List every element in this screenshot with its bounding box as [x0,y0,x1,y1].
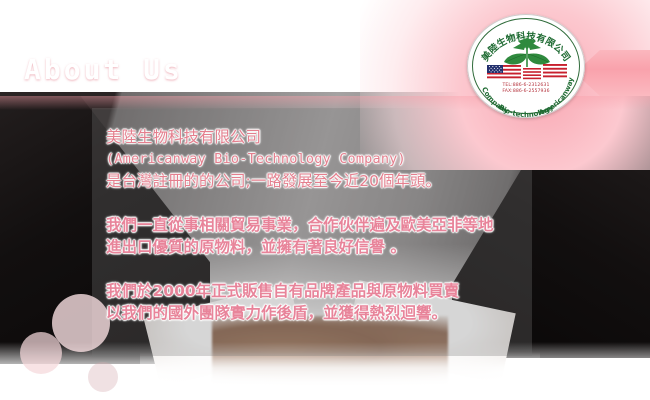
paragraph-1-line-1: 美陸生物科技有限公司 [106,126,576,148]
paragraph-2-line-2: 進出口優質的原物料，並擁有著良好信譽 。 [106,236,576,258]
company-seal-logo: 美陸生物科技有限公司 Company Bio-technology Americ… [467,14,585,118]
paragraph-spacer [106,192,576,214]
seal-fax: FAX:886-6-2557936 [467,89,585,95]
paragraph-2-line-1: 我們一直從事相關貿易事業，合作伙伴遍及歐美亞非等地 [106,214,576,236]
paragraph-spacer [106,258,576,280]
page-title: About Us [24,53,183,86]
about-us-banner-image: About Us 美陸生物科技有限公司 Company Bio-technolo… [0,0,650,400]
paragraph-3-line-1: 我們於2000年正式販售自有品牌產品與原物料買賣 [106,280,576,302]
paragraph-1-line-3: 是台灣註冊的的公司;一路發展至今近20個年頭。 [106,170,576,192]
paragraph-1-line-2: (Americanway Bio-Technology Company) [106,148,576,170]
butterfly-icon [243,50,317,100]
seal-contact-info: TEL:886-6-2312631 FAX:886-6-2557936 [467,83,585,96]
usa-flag-icon [487,62,567,81]
about-us-body-text: 美陸生物科技有限公司 (Americanway Bio-Technology C… [106,126,576,324]
paragraph-3-line-2: 以我們的國外團隊實力作後盾，並獲得熱烈迴響。 [106,302,576,324]
